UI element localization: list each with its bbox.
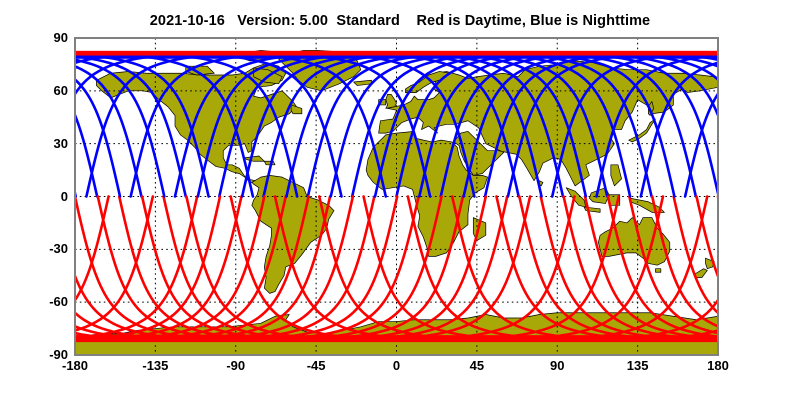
satellite-ground-track-figure: 2021-10-16 Version: 5.00 Standard Red is… xyxy=(0,0,800,400)
daytime-ground-track xyxy=(713,323,800,339)
x-tick-label: 135 xyxy=(608,358,668,373)
north-polar-nighttime-convergence-band xyxy=(75,56,718,59)
y-tick-label: 30 xyxy=(20,136,68,151)
x-tick-label: 90 xyxy=(527,358,587,373)
north-polar-daytime-convergence-band xyxy=(75,51,718,56)
y-tick-label: -60 xyxy=(20,294,68,309)
x-tick-label: -180 xyxy=(45,358,105,373)
y-tick-label: 90 xyxy=(20,30,68,45)
landmass xyxy=(264,161,275,165)
daytime-ground-track xyxy=(757,337,800,340)
daytime-ground-track xyxy=(0,328,56,339)
daytime-ground-track xyxy=(0,334,35,339)
nighttime-ground-track xyxy=(0,53,68,69)
daytime-ground-track xyxy=(735,333,800,340)
x-tick-label: 180 xyxy=(688,358,748,373)
daytime-ground-track xyxy=(0,338,12,340)
x-tick-label: -90 xyxy=(206,358,266,373)
y-tick-label: -30 xyxy=(20,241,68,256)
y-tick-label: 0 xyxy=(20,189,68,204)
daytime-ground-track xyxy=(0,316,79,339)
x-tick-label: -135 xyxy=(125,358,185,373)
ground-track-map xyxy=(0,0,800,400)
landmass xyxy=(655,269,660,273)
y-tick-label: 60 xyxy=(20,83,68,98)
nighttime-ground-track xyxy=(0,53,23,57)
nighttime-ground-track xyxy=(0,53,1,54)
south-polar-daytime-convergence-band xyxy=(75,335,718,342)
x-tick-label: -45 xyxy=(286,358,346,373)
nighttime-ground-track xyxy=(724,53,800,64)
x-tick-label: 45 xyxy=(447,358,507,373)
nighttime-ground-track xyxy=(768,53,800,55)
x-tick-label: 0 xyxy=(367,358,427,373)
daytime-ground-track xyxy=(780,339,800,340)
